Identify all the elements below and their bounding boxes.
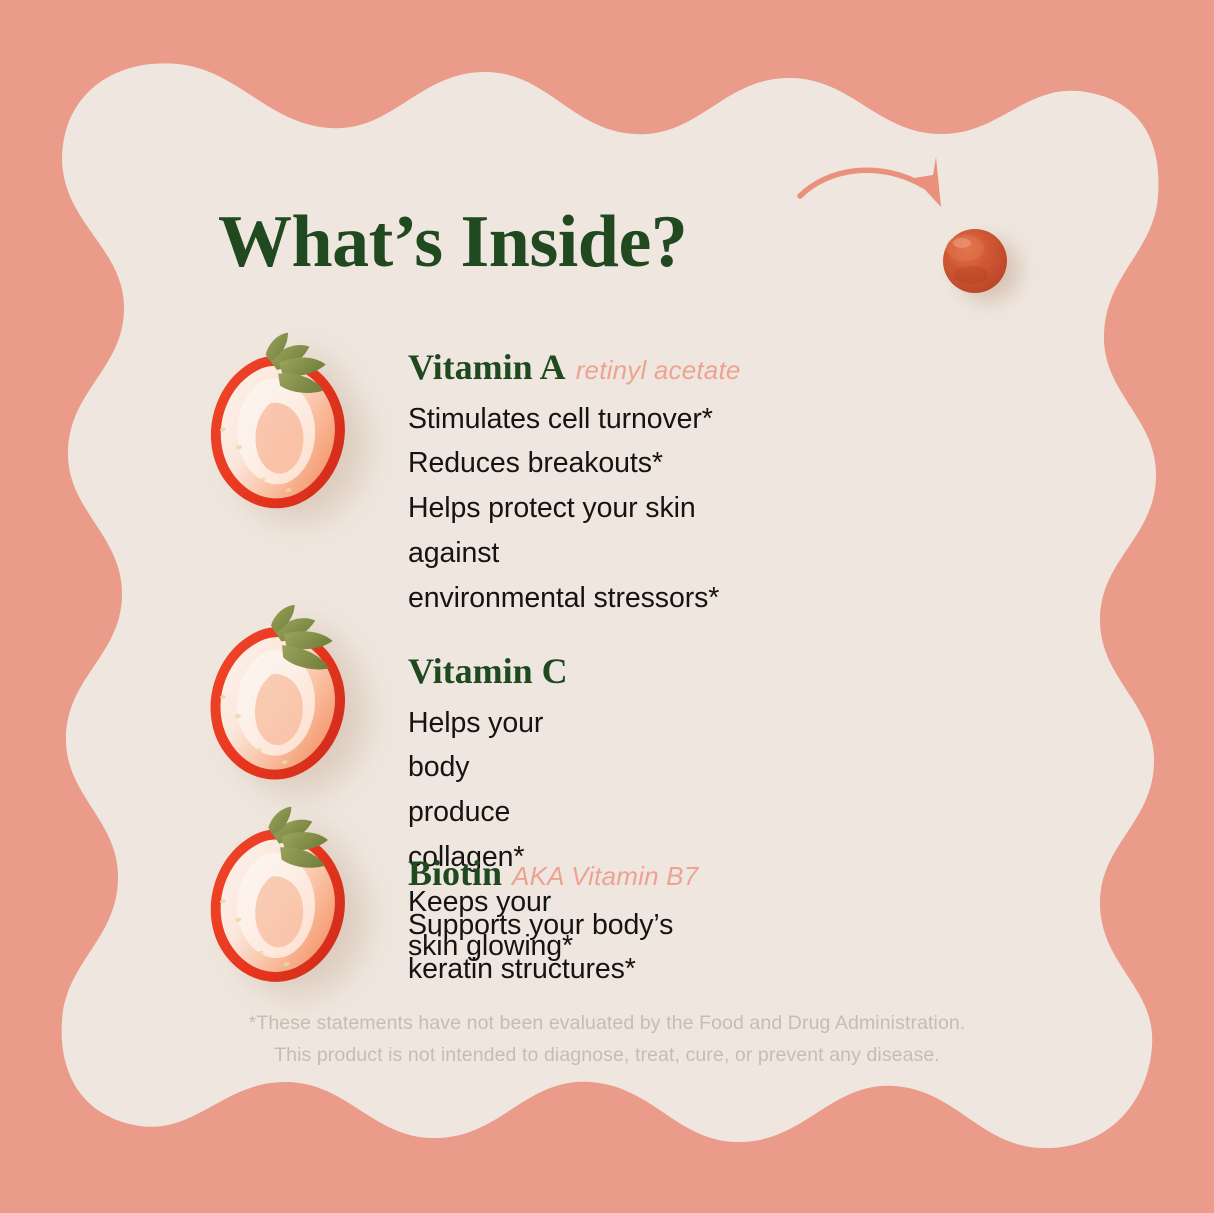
benefit-line: Helps protect your skin against environm… bbox=[408, 486, 741, 620]
disclaimer-line-1: *These statements have not been evaluate… bbox=[0, 1008, 1214, 1040]
ingredient-name: Vitamin C bbox=[408, 651, 568, 691]
disclaimer-line-2: This product is not intended to diagnose… bbox=[0, 1040, 1214, 1072]
benefit-line: Stimulates cell turnover* bbox=[408, 397, 741, 442]
ingredient-text-block: BiotinAKA Vitamin B7 Supports your body’… bbox=[408, 854, 698, 992]
ingredient-heading: Vitamin C bbox=[408, 652, 578, 692]
ingredient-subtitle: AKA Vitamin B7 bbox=[512, 861, 698, 891]
ingredient-heading: BiotinAKA Vitamin B7 bbox=[408, 854, 698, 894]
benefit-line: Supports your body’s keratin structures* bbox=[408, 903, 698, 992]
ingredient-benefit-list: Supports your body’s keratin structures* bbox=[408, 903, 698, 992]
ingredient-subtitle: retinyl acetate bbox=[576, 355, 741, 385]
disclaimer: *These statements have not been evaluate… bbox=[0, 1008, 1214, 1071]
ingredient-heading: Vitamin Aretinyl acetate bbox=[408, 348, 741, 388]
ingredient-benefit-list: Stimulates cell turnover* Reduces breako… bbox=[408, 397, 741, 621]
ingredient-name: Biotin bbox=[408, 853, 502, 893]
benefit-line: Reduces breakouts* bbox=[408, 441, 741, 486]
ingredient-name: Vitamin A bbox=[408, 347, 566, 387]
page-title: What’s Inside? bbox=[218, 205, 687, 279]
ingredient-text-block: Vitamin Aretinyl acetate Stimulates cell… bbox=[408, 348, 741, 620]
